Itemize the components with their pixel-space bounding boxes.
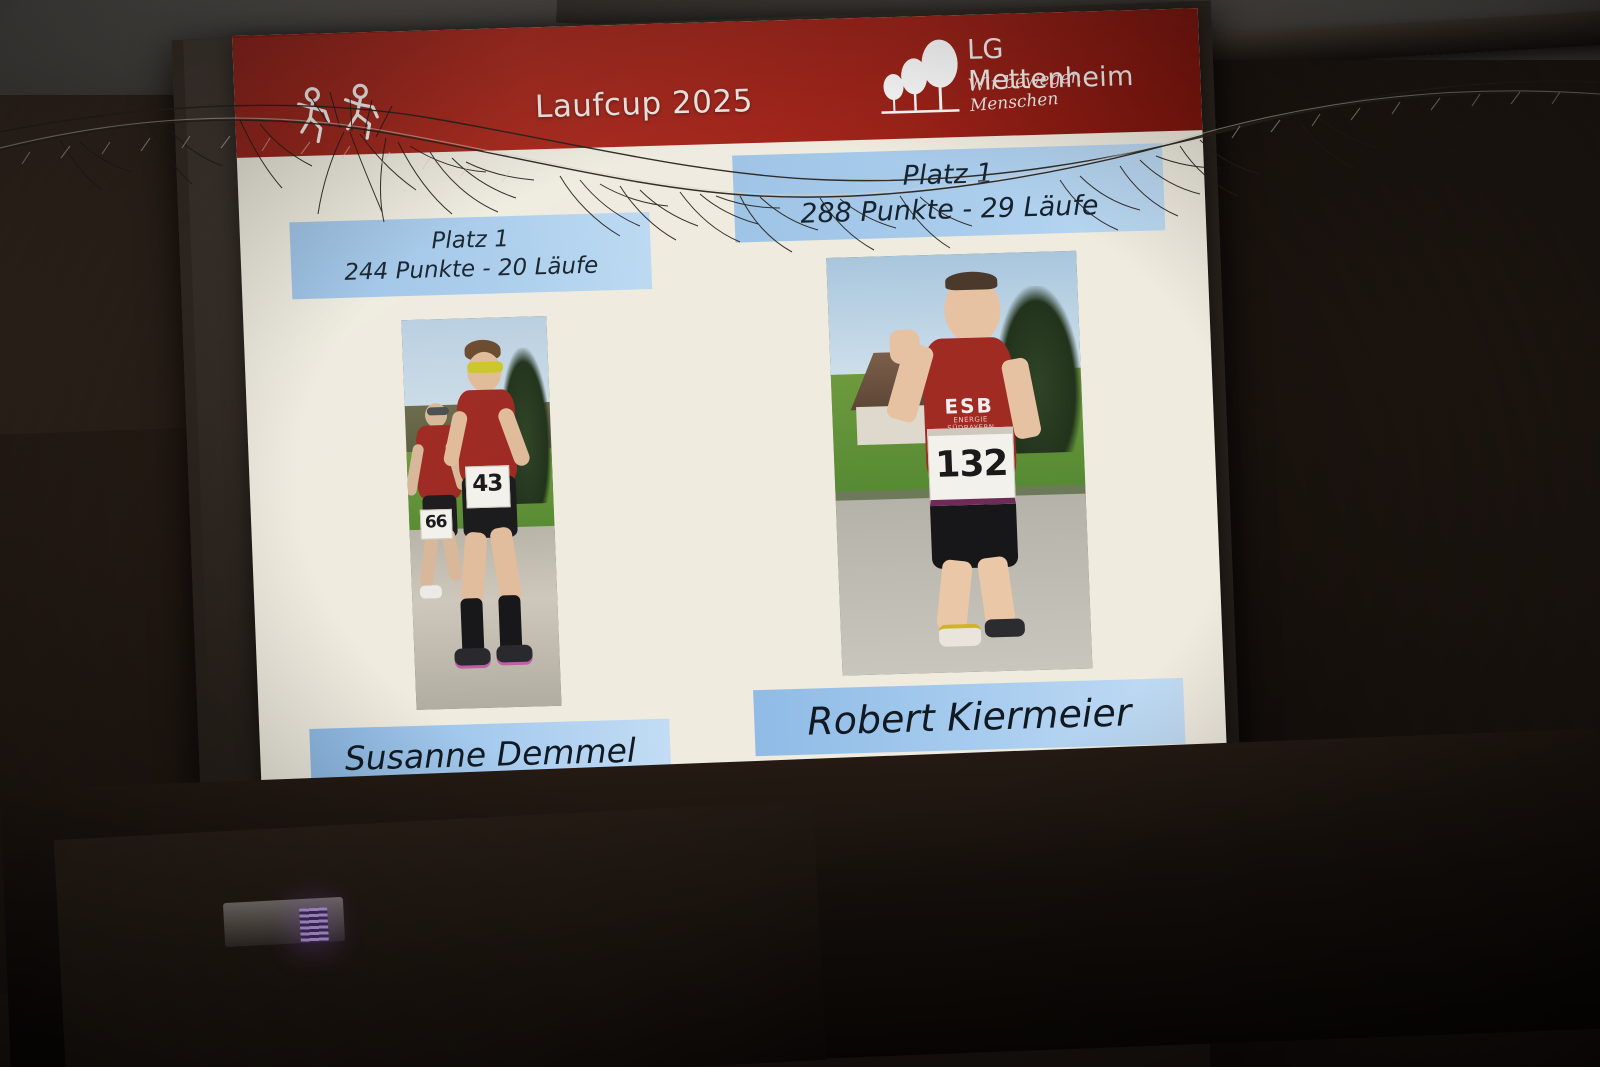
projected-slide: Laufcup 2025 LG Mettenheim Wir bewegen M… [232, 8, 1228, 810]
award-caption-left: Platz 1 244 Punkte - 20 Läufe [289, 212, 652, 299]
tree-group-icon [876, 33, 963, 121]
room-scene: Laufcup 2025 LG Mettenheim Wir bewegen M… [0, 0, 1600, 1067]
bib-number-primary-right: 132 [927, 427, 1016, 506]
running-figures-icon [290, 81, 402, 148]
award-caption-right: Platz 1 288 Punkte - 29 Läufe [732, 143, 1165, 242]
award-panel-left: Platz 1 244 Punkte - 20 Läufe [289, 212, 671, 790]
projector-indicator-light [299, 907, 329, 942]
bib-number-primary-left: 43 [465, 465, 511, 508]
award-name-right: Robert Kiermeier [753, 678, 1185, 756]
club-logo: LG Mettenheim Wir bewegen Menschen [870, 23, 1174, 128]
award-photo-right: ESB ENERGIE SÜDBAYERN 132 [826, 251, 1092, 676]
slide-body: Platz 1 244 Punkte - 20 Läufe [237, 130, 1228, 810]
foreground-runner: 43 [440, 344, 554, 707]
foreground-runner: ESB ENERGIE SÜDBAYERN 132 [885, 274, 1050, 668]
jersey-brand-text: ESB [938, 393, 1001, 417]
wall-back [54, 800, 827, 1067]
award-panel-right: Platz 1 288 Punkte - 29 Läufe [732, 143, 1185, 756]
award-photo-left: 66 [401, 316, 561, 710]
slide-title: Laufcup 2025 [534, 83, 753, 125]
